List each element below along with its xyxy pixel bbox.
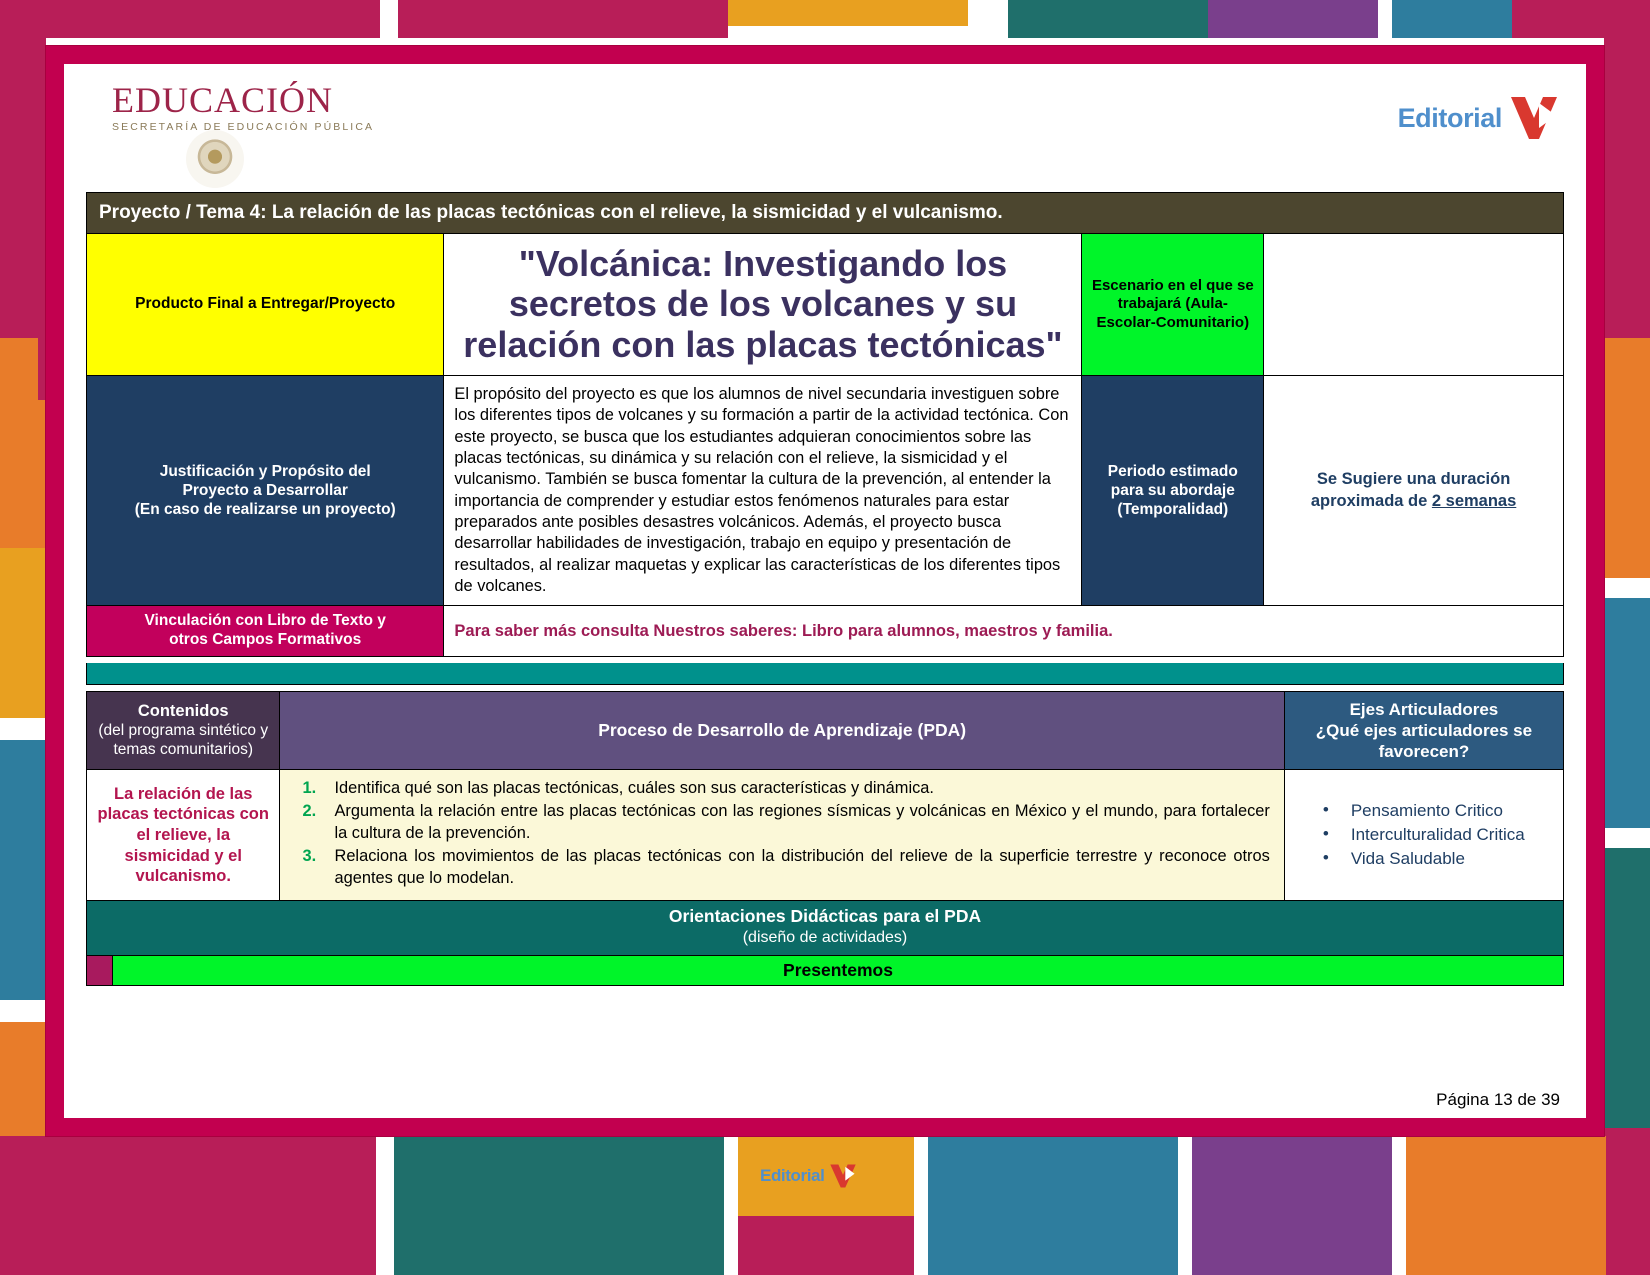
project-overview-table: Proyecto / Tema 4: La relación de las pl… xyxy=(86,192,1564,657)
mosaic-tile xyxy=(1192,1136,1392,1275)
mosaic-tile xyxy=(0,38,46,338)
mosaic-tile xyxy=(0,740,46,1000)
mosaic-tile xyxy=(1604,828,1650,848)
teal-divider-bar xyxy=(86,663,1564,685)
project-title-row: Proyecto / Tema 4: La relación de las pl… xyxy=(87,193,1564,234)
eje-item: Vida Saludable xyxy=(1307,847,1557,871)
justification-body: El propósito del proyecto es que los alu… xyxy=(444,375,1082,605)
mosaic-tile xyxy=(728,26,968,38)
mosaic-tile xyxy=(1392,1136,1406,1275)
ejes-cell: Pensamiento CriticoInterculturalidad Cri… xyxy=(1284,770,1563,901)
orientations-subtitle: (diseño de actividades) xyxy=(91,928,1559,948)
pda-header-row: Contenidos (del programa sintético y tem… xyxy=(87,692,1564,770)
page-sheet: EDUCACIÓN SECRETARÍA DE EDUCACIÓN PÚBLIC… xyxy=(64,64,1586,1118)
ejes-list: Pensamiento CriticoInterculturalidad Cri… xyxy=(1307,799,1557,871)
mosaic-tile xyxy=(968,0,1008,38)
scenario-value xyxy=(1264,234,1564,376)
document-page: Editorial EDUCACIÓN SECRETARÍA DE EDUCAC… xyxy=(0,0,1650,1275)
mosaic-tile xyxy=(380,0,398,38)
product-row: Producto Final a Entregar/Proyecto "Volc… xyxy=(87,234,1564,376)
mosaic-tile xyxy=(738,1216,914,1275)
md-arrow-icon xyxy=(828,1163,858,1189)
mosaic-tile xyxy=(1378,0,1392,38)
orientations-title: Orientaciones Didácticas para el PDA xyxy=(91,906,1559,928)
ejes-header: Ejes Articuladores ¿Qué ejes articulador… xyxy=(1284,692,1563,770)
linkage-row: Vinculación con Libro de Texto y otros C… xyxy=(87,606,1564,657)
sep-subtitle: SECRETARÍA DE EDUCACIÓN PÚBLICA xyxy=(112,121,412,133)
pda-header: Proceso de Desarrollo de Aprendizaje (PD… xyxy=(280,692,1284,770)
pda-content-row: La relación de las placas tectónicas con… xyxy=(87,770,1564,901)
mosaic-tile xyxy=(1604,38,1650,338)
pda-table: Contenidos (del programa sintético y tem… xyxy=(86,691,1564,901)
presentemos-label: Presentemos xyxy=(113,956,1563,985)
justification-row: Justificación y Propósito del Proyecto a… xyxy=(87,375,1564,605)
mosaic-tile xyxy=(0,1000,46,1022)
ejes-header-line2: ¿Qué ejes articuladores se favorecen? xyxy=(1316,721,1532,761)
mosaic-tile xyxy=(1604,598,1650,828)
mosaic-tile xyxy=(1208,0,1378,38)
mosaic-tile xyxy=(1392,0,1512,38)
pda-item: Identifica qué son las placas tectónicas… xyxy=(294,778,1269,800)
linkage-label-line1: Vinculación con Libro de Texto y xyxy=(144,612,385,629)
publisher-logo: Editorial xyxy=(1398,96,1560,140)
linkage-value: Para saber más consulta Nuestros saberes… xyxy=(444,606,1564,657)
scenario-label: Escenario en el que se trabajará (Aula-E… xyxy=(1082,234,1264,376)
mosaic-tile xyxy=(724,1136,738,1275)
ejes-header-line1: Ejes Articuladores xyxy=(1350,700,1499,719)
mosaic-tile xyxy=(38,330,46,400)
mosaic-tile xyxy=(394,1136,724,1275)
presentemos-row: Presentemos xyxy=(86,956,1564,986)
justification-label-line3: (En caso de realizarse un proyecto) xyxy=(135,501,396,518)
eje-item: Interculturalidad Critica xyxy=(1307,823,1557,847)
eje-item: Pensamiento Critico xyxy=(1307,799,1557,823)
mosaic-tile xyxy=(1512,0,1650,38)
pda-item: Relaciona los movimientos de las placas … xyxy=(294,846,1269,890)
mosaic-tile xyxy=(914,1136,928,1275)
mosaic-tile xyxy=(728,0,968,26)
orientations-bar: Orientaciones Didácticas para el PDA (di… xyxy=(86,901,1564,956)
pda-items-cell: Identifica qué son las placas tectónicas… xyxy=(280,770,1284,901)
mosaic-tile xyxy=(928,1136,1178,1275)
page-number-footer: Página 13 de 39 xyxy=(1436,1090,1560,1110)
pda-item: Argumenta la relación entre las placas t… xyxy=(294,801,1269,845)
mosaic-tile xyxy=(0,0,380,38)
sep-title: EDUCACIÓN xyxy=(112,82,412,118)
sep-logo: EDUCACIÓN SECRETARÍA DE EDUCACIÓN PÚBLIC… xyxy=(112,82,412,133)
mosaic-tile xyxy=(1604,1128,1650,1275)
product-final-label: Producto Final a Entregar/Proyecto xyxy=(87,234,444,376)
period-value-weeks: 2 semanas xyxy=(1432,492,1516,510)
contenidos-header: Contenidos (del programa sintético y tem… xyxy=(87,692,280,770)
mosaic-tile xyxy=(1406,1136,1606,1275)
page-frame: EDUCACIÓN SECRETARÍA DE EDUCACIÓN PÚBLIC… xyxy=(46,46,1604,1136)
pda-items-list: Identifica qué son las placas tectónicas… xyxy=(294,778,1269,889)
mosaic-tile xyxy=(398,0,728,38)
linkage-label-line2: otros Campos Formativos xyxy=(169,631,361,648)
publisher-wordmark: Editorial xyxy=(1398,103,1502,134)
mosaic-tile xyxy=(1604,578,1650,598)
md-arrow-icon xyxy=(1508,96,1560,140)
mosaic-tile xyxy=(376,1136,394,1275)
contenidos-header-title: Contenidos xyxy=(138,702,229,720)
publisher-wordmark: Editorial xyxy=(760,1166,824,1186)
project-title-text: Proyecto / Tema 4: La relación de las pl… xyxy=(87,193,1564,234)
justification-label: Justificación y Propósito del Proyecto a… xyxy=(87,375,444,605)
mosaic-tile xyxy=(1008,0,1208,38)
mosaic-tile xyxy=(0,718,46,740)
mosaic-tile xyxy=(1604,848,1650,1128)
justification-label-line1: Justificación y Propósito del xyxy=(160,463,371,480)
contenido-value: La relación de las placas tectónicas con… xyxy=(87,770,280,901)
linkage-label: Vinculación con Libro de Texto y otros C… xyxy=(87,606,444,657)
document-header: EDUCACIÓN SECRETARÍA DE EDUCACIÓN PÚBLIC… xyxy=(86,74,1564,192)
contenidos-header-sub: (del programa sintético y temas comunita… xyxy=(98,722,268,758)
period-label: Periodo estimado para su abordaje (Tempo… xyxy=(1082,375,1264,605)
bottom-publisher-logo: Editorial xyxy=(760,1163,858,1189)
mosaic-tile xyxy=(1604,338,1650,578)
presentemos-color-swatch xyxy=(87,956,113,985)
period-value: Se Sugiere una duración aproximada de 2 … xyxy=(1264,375,1564,605)
justification-label-line2: Proyecto a Desarrollar xyxy=(183,482,348,499)
mosaic-tile xyxy=(0,548,46,718)
mexican-coat-of-arms-seal-icon xyxy=(186,130,244,188)
product-final-title: "Volcánica: Investigando los secretos de… xyxy=(444,234,1082,376)
mosaic-tile xyxy=(1178,1136,1192,1275)
mosaic-tile xyxy=(0,1136,376,1275)
